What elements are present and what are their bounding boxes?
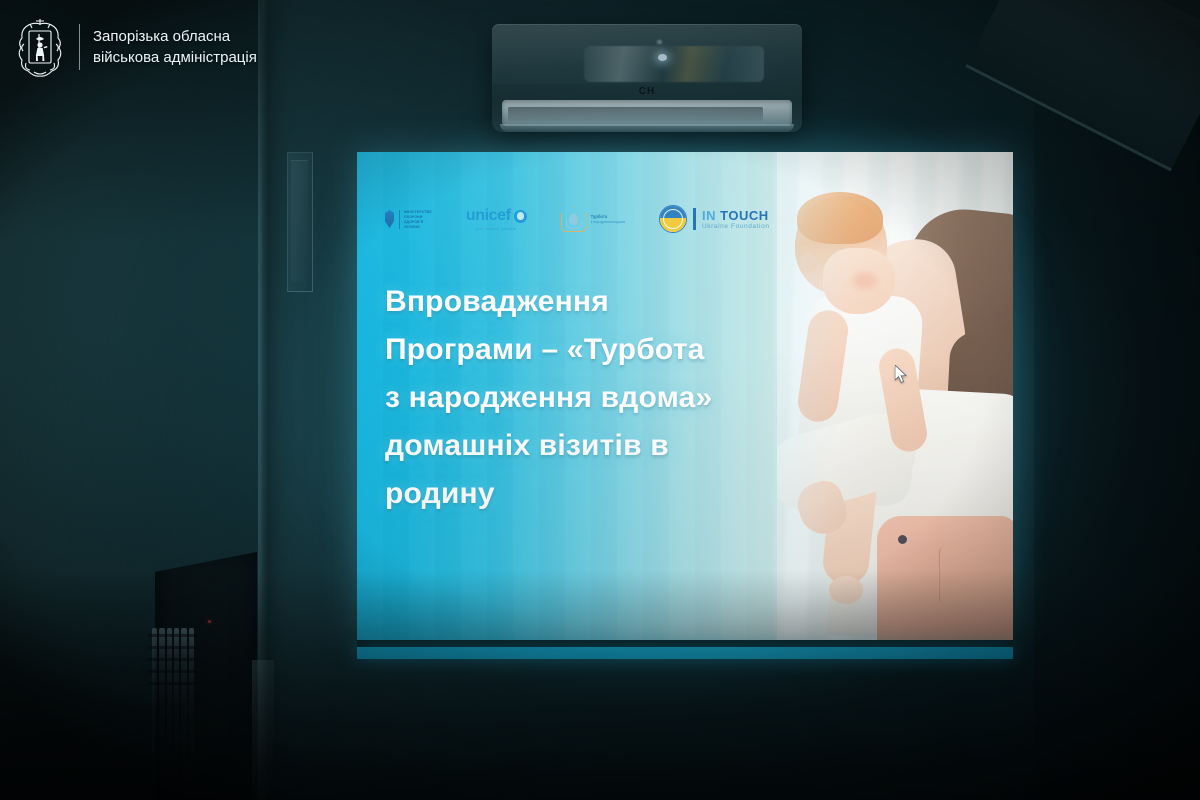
watermark: Запорізька обласна військова адміністрац… <box>14 14 257 80</box>
floor-shadow <box>0 570 1200 800</box>
slide-light-tint <box>357 152 1013 640</box>
mouse-cursor-icon <box>895 365 908 384</box>
watermark-text: Запорізька обласна військова адміністрац… <box>93 26 257 68</box>
ac-brand-label: CH <box>492 86 802 97</box>
ac-glare-small <box>657 40 662 44</box>
watermark-line-1: Запорізька обласна <box>93 26 257 47</box>
wall-panel-inner <box>291 160 308 282</box>
ac-vent-slot <box>508 107 763 121</box>
air-conditioner-icon: CH <box>492 24 802 132</box>
ac-base <box>500 124 794 132</box>
watermark-line-2: військова адміністрація <box>93 47 257 68</box>
ac-reflection <box>584 46 764 82</box>
ac-glare <box>658 54 667 61</box>
projected-slide: МІНІСТЕРСТВО ОХОРОНИ ЗДОРОВ'Я УКРАЇНИ un… <box>357 152 1013 640</box>
watermark-divider <box>79 24 80 70</box>
projection-room-photo: CH <box>0 0 1200 800</box>
coat-of-arms-icon <box>14 14 66 80</box>
